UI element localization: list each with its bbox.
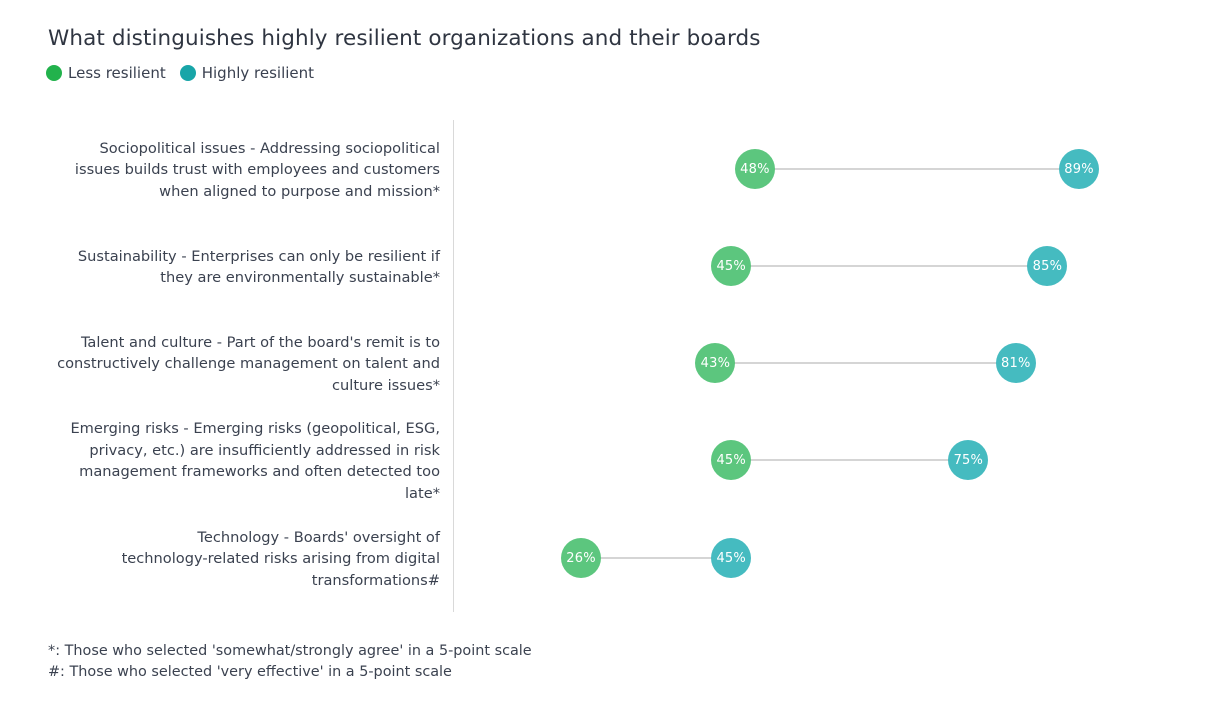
data-point-highly-resilient[interactable]: 45% <box>711 538 751 578</box>
row-category-label: Technology - Boards' oversight oftechnol… <box>40 527 440 592</box>
row-category-label-line: Technology - Boards' oversight of <box>40 527 440 549</box>
data-point-less-resilient[interactable]: 45% <box>711 440 751 480</box>
row-category-label-line: when aligned to purpose and mission* <box>40 181 440 203</box>
row-connector-line <box>581 557 731 559</box>
data-point-less-resilient[interactable]: 45% <box>711 246 751 286</box>
row-category-label-line: Sustainability - Enterprises can only be… <box>40 246 440 268</box>
data-point-less-resilient[interactable]: 26% <box>561 538 601 578</box>
row-category-label-line: constructively challenge management on t… <box>40 353 440 375</box>
row-category-label-line: Emerging risks - Emerging risks (geopoli… <box>40 418 440 440</box>
data-point-highly-resilient[interactable]: 89% <box>1059 149 1099 189</box>
legend-label: Highly resilient <box>202 64 314 82</box>
row-category-label-line: technology-related risks arising from di… <box>40 548 440 570</box>
data-point-value: 45% <box>716 259 746 274</box>
chart-legend: Less resilient Highly resilient <box>46 64 314 82</box>
legend-item-less-resilient[interactable]: Less resilient <box>46 64 166 82</box>
data-point-value: 45% <box>716 551 746 566</box>
row-category-label-line: issues builds trust with employees and c… <box>40 159 440 181</box>
row-category-label: Sustainability - Enterprises can only be… <box>40 246 440 289</box>
data-point-highly-resilient[interactable]: 81% <box>996 343 1036 383</box>
row-category-label-line: privacy, etc.) are insufficiently addres… <box>40 440 440 462</box>
row-category-label: Talent and culture - Part of the board's… <box>40 332 440 397</box>
row-category-label-line: Sociopolitical issues - Addressing socio… <box>40 138 440 160</box>
footnote-asterisk: *: Those who selected 'somewhat/strongly… <box>48 641 532 662</box>
data-point-value: 45% <box>716 453 746 468</box>
data-point-value: 43% <box>701 356 731 371</box>
row-category-label: Emerging risks - Emerging risks (geopoli… <box>40 418 440 504</box>
row-category-label: Sociopolitical issues - Addressing socio… <box>40 138 440 203</box>
row-category-label-line: management frameworks and often detected… <box>40 461 440 483</box>
data-point-value: 89% <box>1064 162 1094 177</box>
data-point-highly-resilient[interactable]: 75% <box>948 440 988 480</box>
page-title: What distinguishes highly resilient orga… <box>48 26 761 51</box>
legend-swatch-icon <box>46 65 62 81</box>
data-point-less-resilient[interactable]: 48% <box>735 149 775 189</box>
footnotes: *: Those who selected 'somewhat/strongly… <box>48 641 532 683</box>
legend-swatch-icon <box>180 65 196 81</box>
legend-label: Less resilient <box>68 64 166 82</box>
data-point-value: 75% <box>954 453 984 468</box>
data-point-highly-resilient[interactable]: 85% <box>1027 246 1067 286</box>
data-point-value: 81% <box>1001 356 1031 371</box>
data-point-value: 26% <box>566 551 596 566</box>
row-connector-line <box>715 362 1015 364</box>
row-category-label-line: they are environmentally sustainable* <box>40 267 440 289</box>
row-category-label-line: late* <box>40 483 440 505</box>
row-connector-line <box>731 459 968 461</box>
row-category-label-line: transformations# <box>40 570 440 592</box>
dumbbell-chart-plot: Sociopolitical issues - Addressing socio… <box>0 0 1225 702</box>
category-axis-line <box>453 120 454 612</box>
row-connector-line <box>755 168 1079 170</box>
row-category-label-line: culture issues* <box>40 375 440 397</box>
data-point-value: 48% <box>740 162 770 177</box>
legend-item-highly-resilient[interactable]: Highly resilient <box>180 64 314 82</box>
row-connector-line <box>731 265 1047 267</box>
footnote-hash: #: Those who selected 'very effective' i… <box>48 662 532 683</box>
data-point-less-resilient[interactable]: 43% <box>695 343 735 383</box>
data-point-value: 85% <box>1033 259 1063 274</box>
row-category-label-line: Talent and culture - Part of the board's… <box>40 332 440 354</box>
